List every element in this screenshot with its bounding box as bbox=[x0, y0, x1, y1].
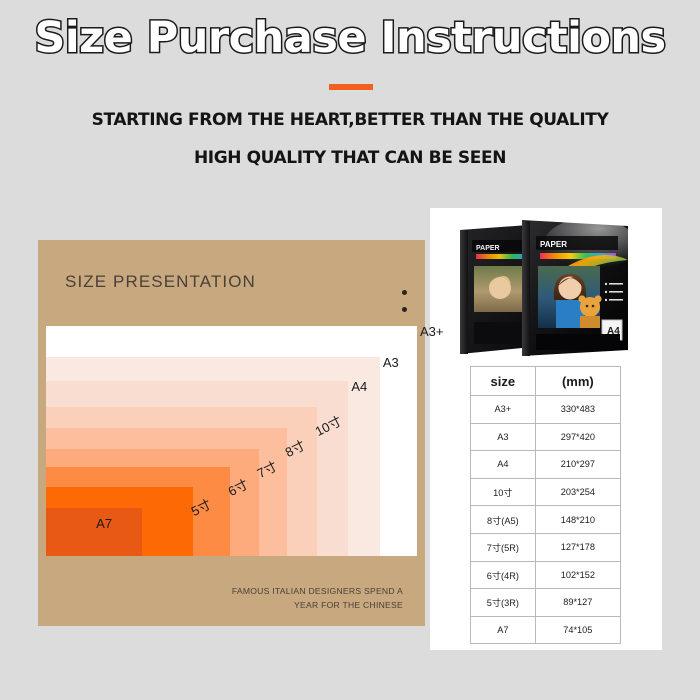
cell-mm: 210*297 bbox=[535, 451, 620, 479]
cell-size: 10寸 bbox=[471, 478, 536, 506]
cell-size: 6寸(4R) bbox=[471, 561, 536, 589]
table-row: 8寸(A5)148*210 bbox=[471, 506, 621, 534]
panel-dot bbox=[402, 290, 407, 295]
subtitle-line-1: STARTING FROM THE HEART,BETTER THAN THE … bbox=[0, 110, 700, 130]
table-header-row: size (mm) bbox=[471, 367, 621, 396]
photo-paper-box-front: PAPER A4 bbox=[522, 218, 636, 356]
cell-mm: 102*152 bbox=[535, 561, 620, 589]
panel-footnote-line-1: FAMOUS ITALIAN DESIGNERS SPEND A bbox=[232, 584, 403, 598]
cell-mm: 89*127 bbox=[535, 589, 620, 617]
table-row: A774*105 bbox=[471, 616, 621, 644]
product-boxes-image: PAPER PAPER bbox=[430, 208, 662, 360]
size-label-A3: A3 bbox=[383, 355, 399, 370]
svg-text:PAPER: PAPER bbox=[476, 245, 500, 252]
table-row: A4210*297 bbox=[471, 451, 621, 479]
size-rect-A7 bbox=[46, 508, 142, 556]
page-header: Size Purchase Instructions STARTING FROM… bbox=[0, 0, 700, 190]
title-divider bbox=[329, 84, 373, 90]
subtitle-line-2: HIGH QUALITY THAT CAN BE SEEN bbox=[0, 148, 700, 168]
cell-size: A4 bbox=[471, 451, 536, 479]
size-presentation-title: SIZE PRESENTATION bbox=[65, 272, 256, 292]
cell-mm: 297*420 bbox=[535, 423, 620, 451]
product-panel: PAPER PAPER bbox=[430, 208, 662, 650]
cell-mm: 127*178 bbox=[535, 533, 620, 561]
cell-mm: 148*210 bbox=[535, 506, 620, 534]
size-label-A7: A7 bbox=[96, 516, 112, 531]
table-row: 5寸(3R)89*127 bbox=[471, 589, 621, 617]
cell-size: 8寸(A5) bbox=[471, 506, 536, 534]
cell-mm: 330*483 bbox=[535, 396, 620, 424]
size-label-A4: A4 bbox=[351, 379, 367, 394]
panel-dots bbox=[402, 290, 412, 324]
size-comparison-diagram: A3+A3A410寸8寸7寸6寸5寸A7 bbox=[46, 326, 417, 556]
table-row: A3297*420 bbox=[471, 423, 621, 451]
svg-text:PAPER: PAPER bbox=[540, 240, 567, 249]
cell-mm: 74*105 bbox=[535, 616, 620, 644]
cell-size: 5寸(3R) bbox=[471, 589, 536, 617]
column-header-size: size bbox=[471, 367, 536, 396]
table-row: 10寸203*254 bbox=[471, 478, 621, 506]
panel-footnote: FAMOUS ITALIAN DESIGNERS SPEND A YEAR FO… bbox=[232, 584, 403, 612]
cell-mm: 203*254 bbox=[535, 478, 620, 506]
size-presentation-panel: SIZE PRESENTATION A3+A3A410寸8寸7寸6寸5寸A7 F… bbox=[38, 240, 425, 626]
table-row: A3+330*483 bbox=[471, 396, 621, 424]
cell-size: 7寸(5R) bbox=[471, 533, 536, 561]
cell-size: A3 bbox=[471, 423, 536, 451]
panel-footnote-line-2: YEAR FOR THE CHINESE bbox=[232, 598, 403, 612]
size-label-A3+: A3+ bbox=[420, 324, 444, 339]
page-title: Size Purchase Instructions bbox=[0, 14, 700, 62]
table-row: 6寸(4R)102*152 bbox=[471, 561, 621, 589]
cell-size: A3+ bbox=[471, 396, 536, 424]
column-header-mm: (mm) bbox=[535, 367, 620, 396]
table-row: 7寸(5R)127*178 bbox=[471, 533, 621, 561]
size-spec-table: size (mm) A3+330*483A3297*420A4210*29710… bbox=[470, 366, 621, 644]
panel-dot bbox=[402, 307, 407, 312]
cell-size: A7 bbox=[471, 616, 536, 644]
